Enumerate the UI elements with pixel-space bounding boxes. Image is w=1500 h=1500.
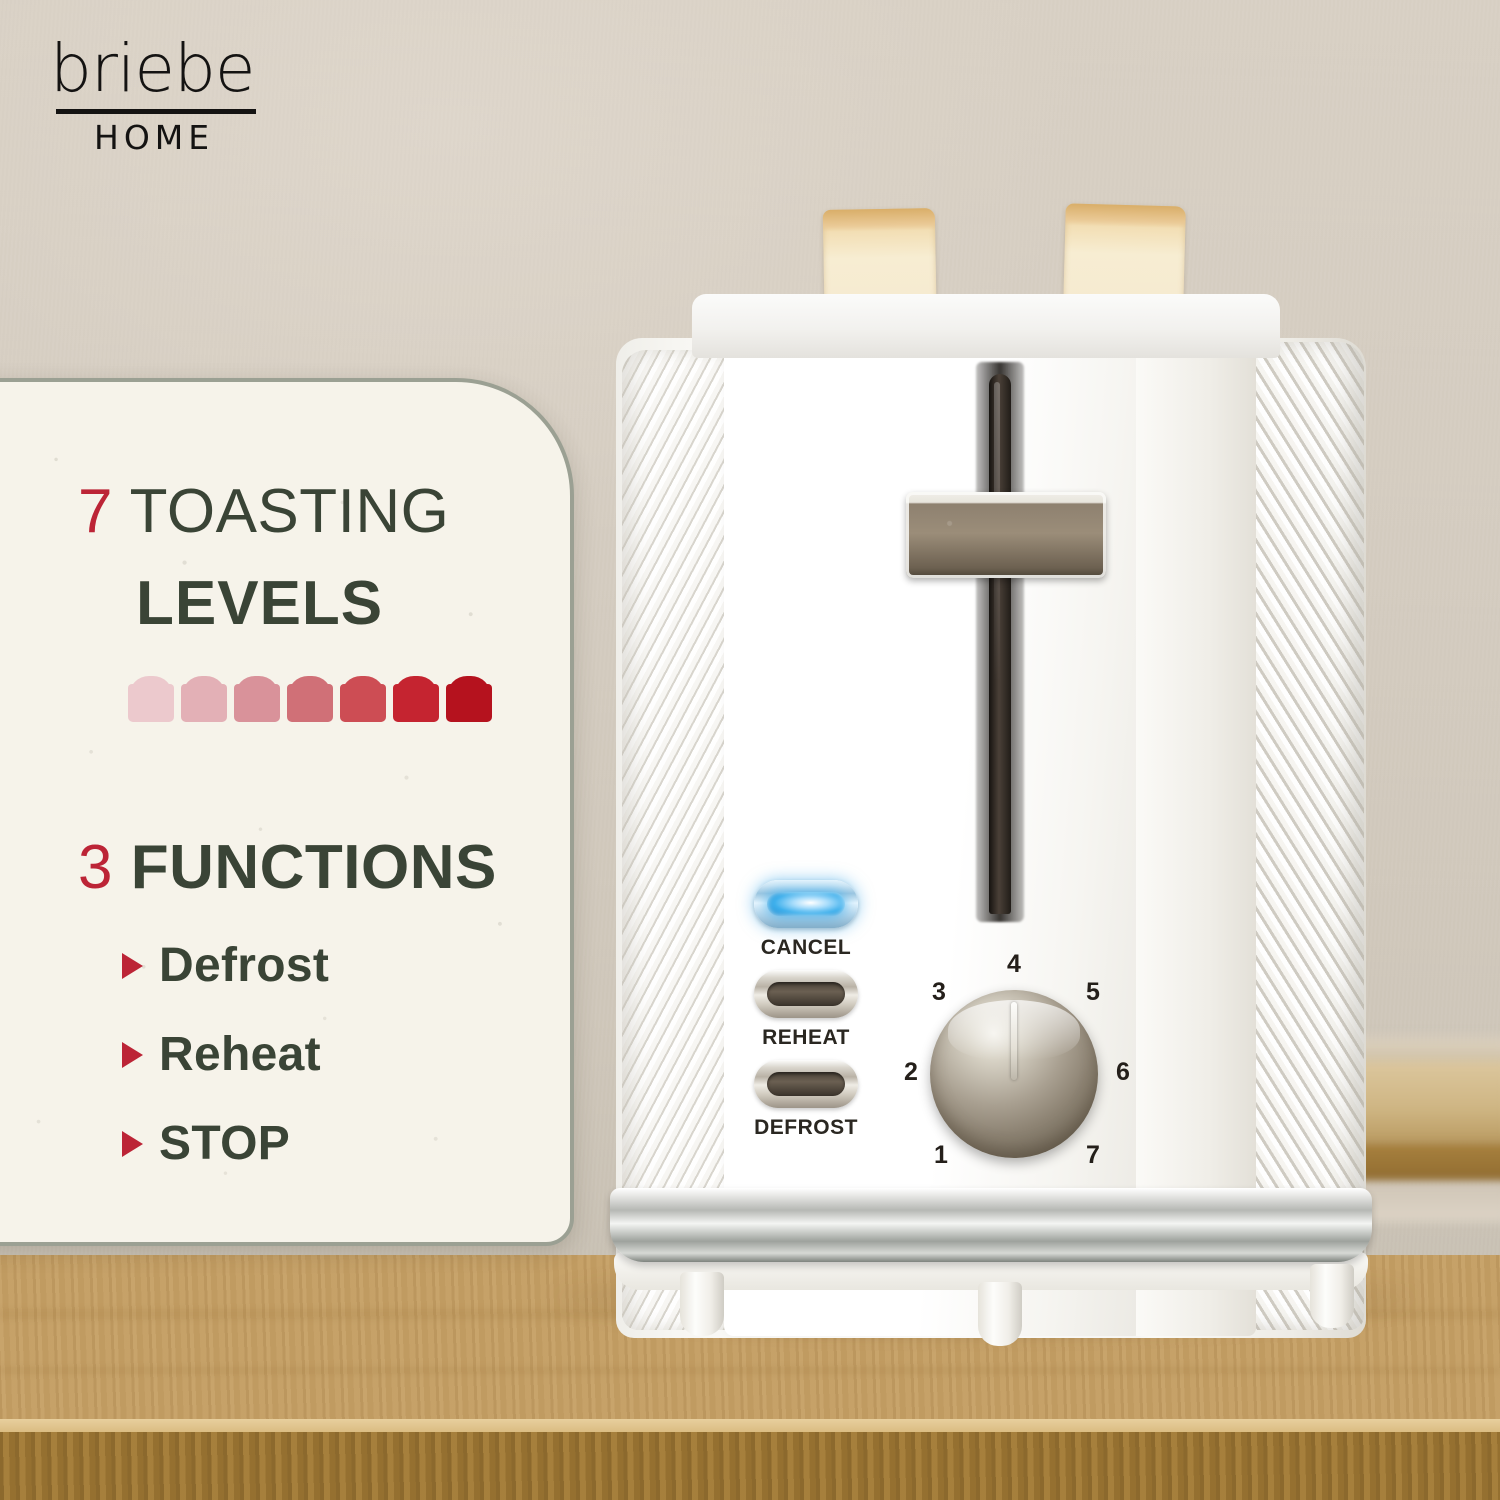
function-label-stop: STOP bbox=[159, 1116, 290, 1171]
bread-slice-swatch-2 bbox=[182, 676, 226, 722]
toasting-levels-word: TOASTING bbox=[130, 477, 450, 546]
brand-name: briebe bbox=[46, 34, 306, 103]
front-panel-highlight bbox=[744, 356, 894, 1316]
reheat-button[interactable] bbox=[754, 970, 858, 1018]
defrost-button-label: DEFROST bbox=[731, 1116, 881, 1140]
cancel-button-label: CANCEL bbox=[731, 936, 881, 960]
countertop-front-grain bbox=[0, 1432, 1500, 1500]
countertop-edge-lip bbox=[0, 1419, 1500, 1433]
toaster-product: CANCEL REHEAT DEFROST 1 2 3 4 5 6 7 bbox=[596, 186, 1366, 1316]
browning-level-dial[interactable] bbox=[930, 990, 1098, 1158]
lever-track bbox=[989, 374, 1011, 914]
toaster-top-plate bbox=[692, 294, 1280, 358]
cancel-button[interactable] bbox=[754, 880, 858, 928]
list-item: STOP bbox=[122, 1116, 329, 1171]
cancel-button-light bbox=[767, 892, 845, 916]
dial-tick-1: 1 bbox=[926, 1141, 956, 1170]
toasting-levels-headline: 7 TOASTING bbox=[78, 480, 449, 543]
functions-word: FUNCTIONS bbox=[131, 833, 497, 902]
countertop-front-face bbox=[0, 1432, 1500, 1500]
triangle-bullet-icon bbox=[122, 1042, 143, 1068]
defrost-button[interactable] bbox=[754, 1060, 858, 1108]
function-label-defrost: Defrost bbox=[159, 938, 329, 993]
triangle-bullet-icon bbox=[122, 953, 143, 979]
brand-logo: briebe HOME bbox=[46, 34, 306, 157]
toaster-foot-right bbox=[1310, 1264, 1354, 1328]
dial-tick-6: 6 bbox=[1108, 1058, 1138, 1087]
dial-tick-2: 2 bbox=[896, 1058, 926, 1087]
function-label-reheat: Reheat bbox=[159, 1027, 321, 1082]
wood-streak bbox=[0, 1367, 1500, 1374]
reheat-button-label: REHEAT bbox=[731, 1026, 881, 1050]
toaster-foot-center bbox=[978, 1282, 1022, 1346]
bread-slice-swatch-3 bbox=[235, 676, 279, 722]
defrost-button-slot bbox=[767, 1072, 845, 1096]
toasting-levels-count: 7 bbox=[78, 477, 113, 546]
list-item: Reheat bbox=[122, 1027, 329, 1082]
carriage-lever-handle[interactable] bbox=[906, 492, 1106, 578]
bread-crust bbox=[823, 208, 935, 232]
reheat-button-slot bbox=[767, 982, 845, 1006]
toaster-foot-left bbox=[680, 1272, 724, 1336]
functions-headline: 3 FUNCTIONS bbox=[78, 832, 497, 903]
lever-handle-face bbox=[912, 506, 1100, 564]
chrome-base-band bbox=[610, 1188, 1372, 1262]
bread-slice-swatch-5 bbox=[341, 676, 385, 722]
bread-slice-swatch-4 bbox=[288, 676, 332, 722]
triangle-bullet-icon bbox=[122, 1131, 143, 1157]
bread-slice-swatch-7 bbox=[447, 676, 491, 722]
list-item: Defrost bbox=[122, 938, 329, 993]
toasting-level-swatches bbox=[129, 676, 491, 722]
dial-tick-3: 3 bbox=[924, 978, 954, 1007]
toasting-levels-word2: LEVELS bbox=[136, 568, 383, 639]
brand-subtitle: HOME bbox=[46, 118, 306, 157]
bread-crust bbox=[1065, 203, 1186, 228]
functions-count: 3 bbox=[78, 833, 113, 902]
dial-pointer-indicator bbox=[1011, 1002, 1017, 1080]
bread-slice-swatch-1 bbox=[129, 676, 173, 722]
logo-divider-rule bbox=[56, 109, 256, 114]
dial-tick-5: 5 bbox=[1078, 978, 1108, 1007]
dial-tick-7: 7 bbox=[1078, 1141, 1108, 1170]
functions-list: Defrost Reheat STOP bbox=[122, 938, 329, 1205]
bread-slice-swatch-6 bbox=[394, 676, 438, 722]
dial-tick-4: 4 bbox=[999, 950, 1029, 979]
feature-info-card: 7 TOASTING LEVELS 3 FUNCTIONS Defrost Re… bbox=[0, 378, 574, 1246]
